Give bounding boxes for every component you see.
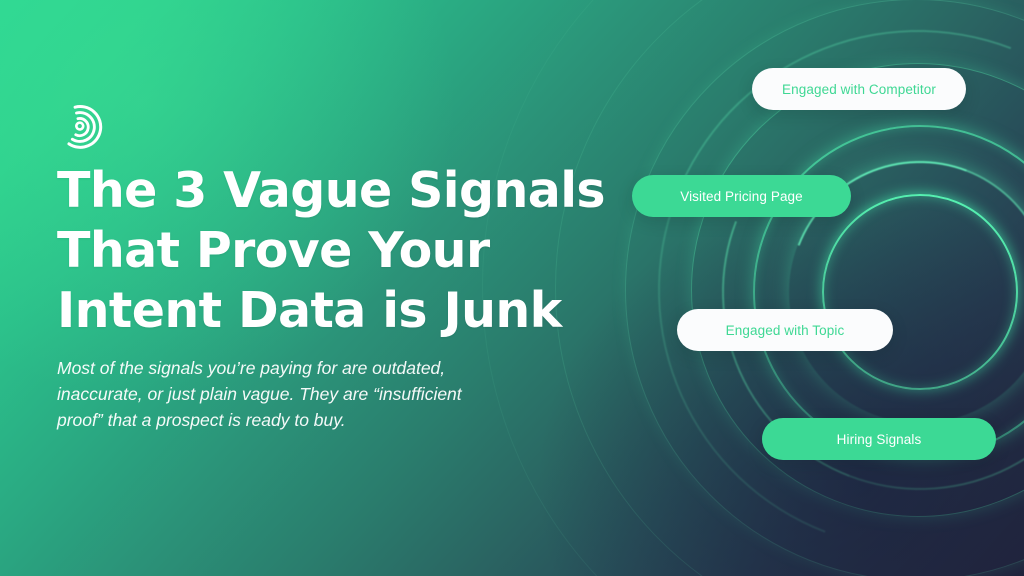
headline-line-3: Intent Data is Junk (57, 281, 657, 341)
signal-pill-hiring-signals[interactable]: Hiring Signals (762, 418, 996, 460)
signal-pill-engaged-with-competitor[interactable]: Engaged with Competitor (752, 68, 966, 110)
promo-slide: The 3 Vague Signals That Prove Your Inte… (0, 0, 1024, 576)
subtitle-line-1: Most of the signals you’re paying for ar… (57, 355, 569, 381)
spiral-logo-icon (57, 104, 103, 150)
signal-pill-visited-pricing-page[interactable]: Visited Pricing Page (632, 175, 851, 217)
subtitle-line-3: proof” that a prospect is ready to buy. (57, 407, 569, 433)
ring-arc-1 (747, 119, 1024, 465)
subtitle: Most of the signals you’re paying for ar… (57, 355, 569, 433)
subtitle-line-2: inaccurate, or just plain vague. They ar… (57, 381, 569, 407)
headline-line-2: That Prove Your (57, 221, 657, 281)
headline-line-1: The 3 Vague Signals (57, 161, 657, 221)
ring-inner-1 (822, 194, 1018, 390)
page-title: The 3 Vague Signals That Prove Your Inte… (57, 161, 657, 341)
signal-pill-engaged-with-topic[interactable]: Engaged with Topic (677, 309, 893, 351)
